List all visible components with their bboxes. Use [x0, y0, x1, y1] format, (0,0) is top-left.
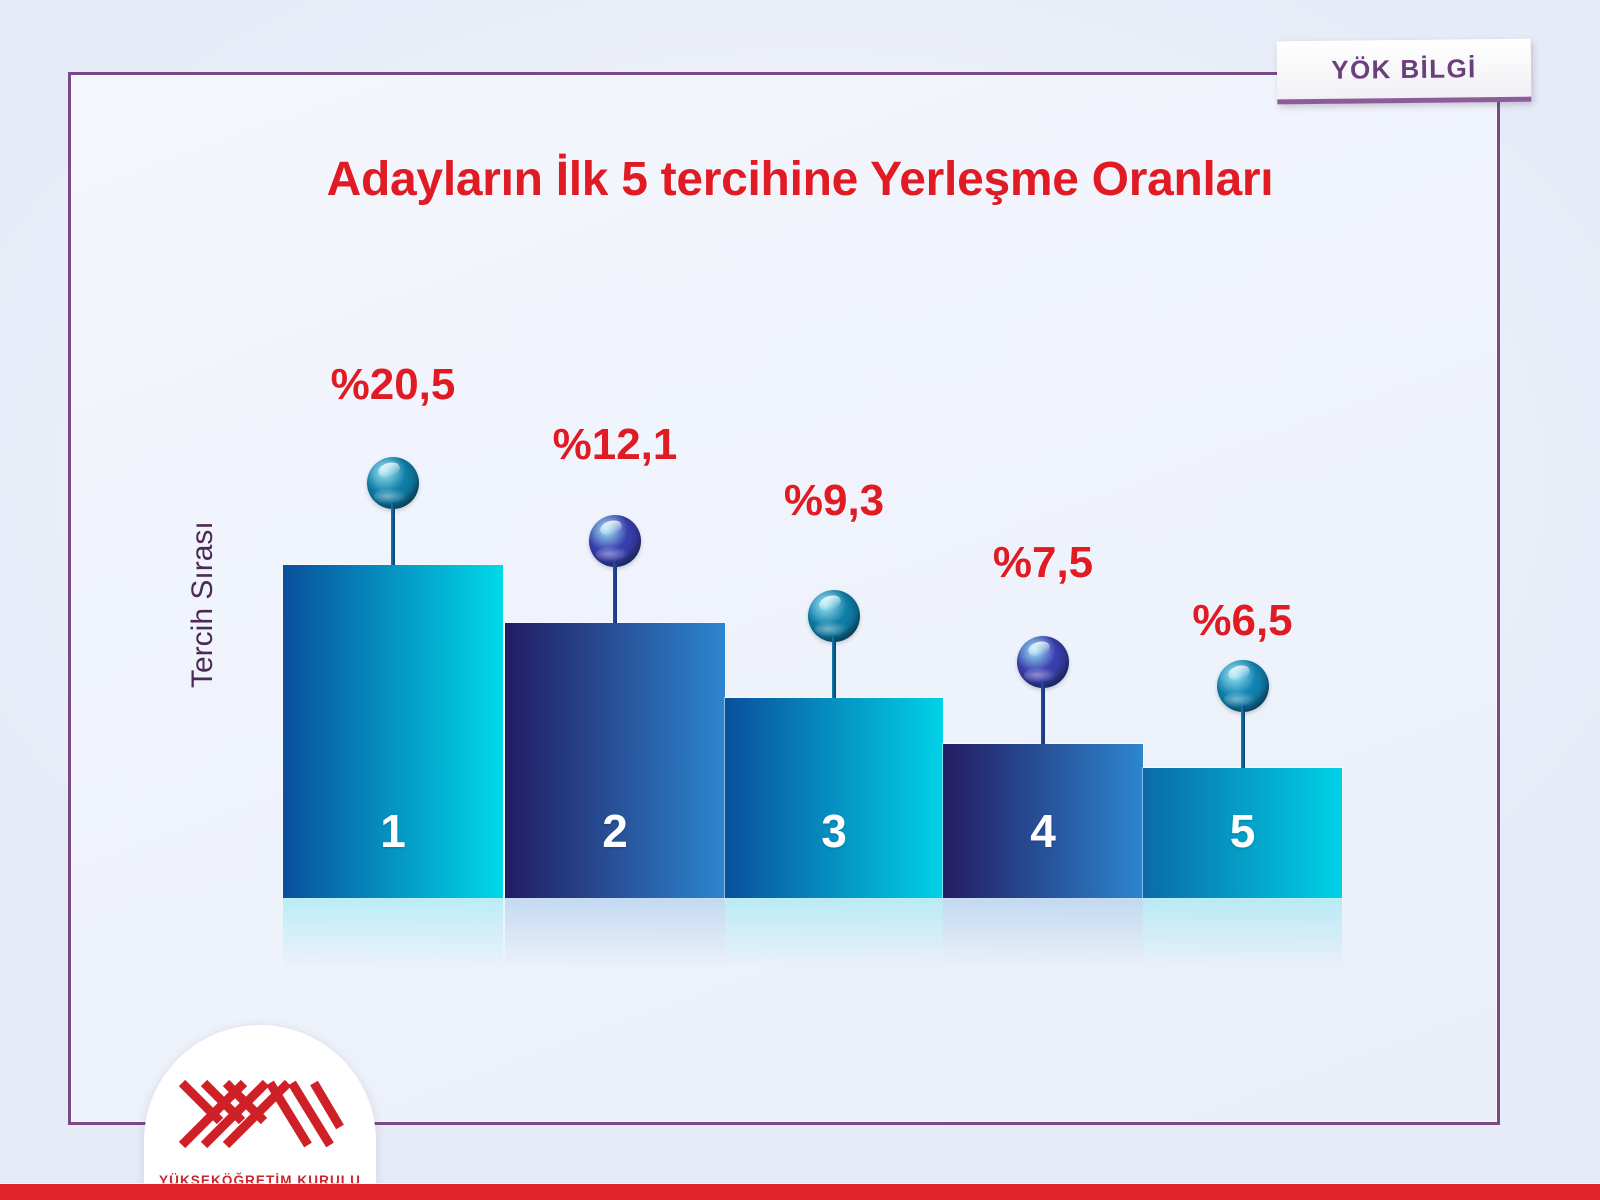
bar-category-label: 3	[725, 804, 943, 858]
bar-reflection-5	[1143, 898, 1342, 975]
value-label-1: %20,5	[318, 360, 468, 410]
pin-marker-3[interactable]	[808, 590, 860, 698]
pin-marker-4[interactable]	[1017, 636, 1069, 744]
bar-4[interactable]: 4	[943, 744, 1143, 898]
bar-1[interactable]: 1	[283, 565, 503, 898]
bar-2[interactable]: 2	[505, 623, 725, 898]
value-label-2: %12,1	[540, 420, 690, 470]
y-axis-label: Tercih Sırası	[186, 521, 220, 688]
pin-stem	[832, 636, 836, 698]
bar-reflection-1	[283, 898, 503, 975]
pin-marker-2[interactable]	[589, 515, 641, 623]
bar-3[interactable]: 3	[725, 698, 943, 898]
bar-reflection-2	[505, 898, 725, 975]
pin-ball-icon	[808, 590, 860, 642]
pin-ball-icon	[1217, 660, 1269, 712]
pin-stem	[613, 561, 617, 623]
value-label-5: %6,5	[1168, 596, 1318, 646]
bar-reflection-3	[725, 898, 943, 975]
pin-stem	[1241, 706, 1245, 768]
bar-category-label: 1	[283, 804, 503, 858]
pin-marker-5[interactable]	[1217, 660, 1269, 768]
pin-stem	[391, 503, 395, 565]
bottom-accent-bar	[0, 1184, 1600, 1200]
pin-ball-icon	[1017, 636, 1069, 688]
pin-stem	[1041, 682, 1045, 744]
slide-canvas: YÖK BİLGİ Adayların İlk 5 tercihine Yerl…	[0, 0, 1600, 1200]
value-label-3: %9,3	[759, 476, 909, 526]
bar-reflection-4	[943, 898, 1143, 975]
yok-logo-mark	[144, 1077, 376, 1158]
pin-ball-icon	[589, 515, 641, 567]
bar-chart: 1%20,52%12,13%9,34%7,55%6,5	[0, 0, 1600, 1200]
pin-marker-1[interactable]	[367, 457, 419, 565]
bar-category-label: 2	[505, 804, 725, 858]
pin-ball-icon	[367, 457, 419, 509]
bar-5[interactable]: 5	[1143, 768, 1342, 898]
value-label-4: %7,5	[968, 538, 1118, 588]
bar-category-label: 4	[943, 804, 1143, 858]
bar-category-label: 5	[1143, 804, 1342, 858]
yok-logo-icon	[174, 1077, 346, 1153]
